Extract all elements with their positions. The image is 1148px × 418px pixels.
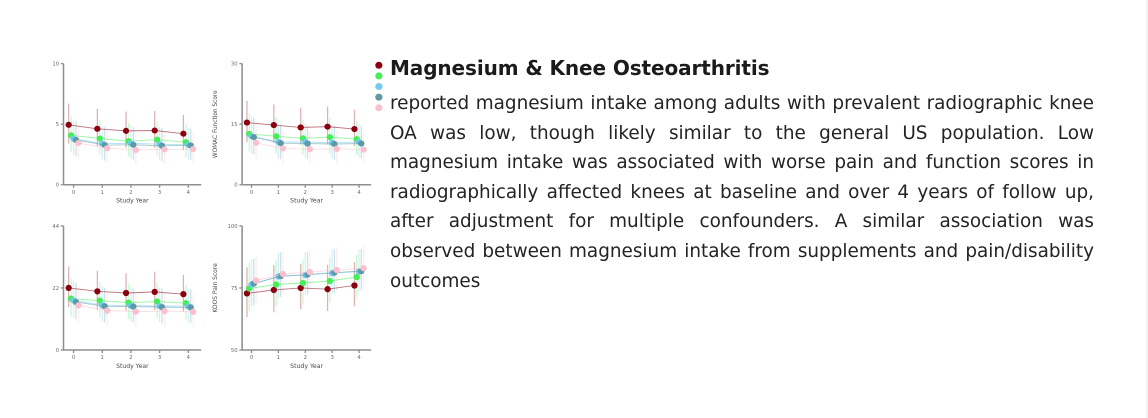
chart-bottom-right: 507510001234Study YearKOOS Pain Score (206, 214, 378, 384)
svg-text:4: 4 (357, 355, 361, 361)
svg-text:75: 75 (231, 286, 238, 292)
svg-text:2: 2 (129, 190, 132, 196)
svg-text:3: 3 (330, 190, 333, 196)
svg-text:Study Year: Study Year (290, 197, 323, 204)
chart-top-left-canvas: 051001234Study Year (38, 52, 208, 218)
svg-text:5: 5 (56, 122, 59, 128)
svg-text:Study Year: Study Year (116, 197, 149, 204)
svg-text:Study Year: Study Year (116, 363, 149, 370)
slide-body-text: reported magnesium intake among adults w… (390, 89, 1094, 326)
chart-bottom-left: 0224401234Study Year (38, 214, 208, 384)
chart-bottom-right-canvas: 507510001234Study YearKOOS Pain Score (206, 214, 378, 384)
svg-text:0: 0 (72, 355, 75, 361)
svg-text:0: 0 (56, 183, 59, 189)
svg-text:3: 3 (330, 355, 333, 361)
svg-text:1: 1 (277, 190, 280, 196)
svg-text:0: 0 (234, 183, 237, 189)
svg-text:4: 4 (357, 190, 361, 196)
svg-text:1: 1 (101, 355, 104, 361)
svg-text:0: 0 (72, 190, 75, 196)
chart-top-right-canvas: 0153001234Study YearWOMAC Function Score (206, 52, 378, 218)
svg-text:1: 1 (101, 190, 104, 196)
page-title: Magnesium & Knee Osteoarthritis (390, 56, 1094, 80)
svg-text:50: 50 (231, 348, 238, 354)
svg-text:0: 0 (56, 348, 59, 354)
svg-text:44: 44 (52, 224, 59, 230)
svg-text:22: 22 (52, 286, 59, 292)
svg-text:15: 15 (231, 122, 238, 128)
text-panel: Magnesium & Knee Osteoarthritis reported… (390, 56, 1094, 326)
svg-text:100: 100 (227, 224, 238, 230)
chart-bottom-left-canvas: 0224401234Study Year (38, 214, 208, 384)
svg-text:KOOS Pain Score: KOOS Pain Score (212, 263, 219, 313)
chart-top-left: 051001234Study Year (38, 52, 208, 218)
svg-text:4: 4 (187, 190, 191, 196)
svg-text:2: 2 (304, 355, 307, 361)
svg-text:3: 3 (158, 355, 161, 361)
svg-text:30: 30 (231, 62, 238, 68)
svg-text:4: 4 (187, 355, 191, 361)
svg-text:WOMAC Function Score: WOMAC Function Score (213, 90, 219, 158)
svg-text:1: 1 (277, 355, 280, 361)
svg-text:10: 10 (52, 61, 59, 67)
svg-text:0: 0 (250, 355, 254, 361)
slide-root: 051001234Study Year 0153001234Study Year… (0, 0, 1148, 418)
svg-text:3: 3 (158, 190, 161, 196)
figure-panel: 051001234Study Year 0153001234Study Year… (38, 52, 378, 384)
svg-text:0: 0 (250, 190, 253, 196)
svg-text:2: 2 (129, 355, 132, 361)
svg-text:Study Year: Study Year (290, 363, 323, 370)
chart-top-right: 0153001234Study YearWOMAC Function Score (206, 52, 378, 218)
svg-text:2: 2 (304, 190, 307, 196)
